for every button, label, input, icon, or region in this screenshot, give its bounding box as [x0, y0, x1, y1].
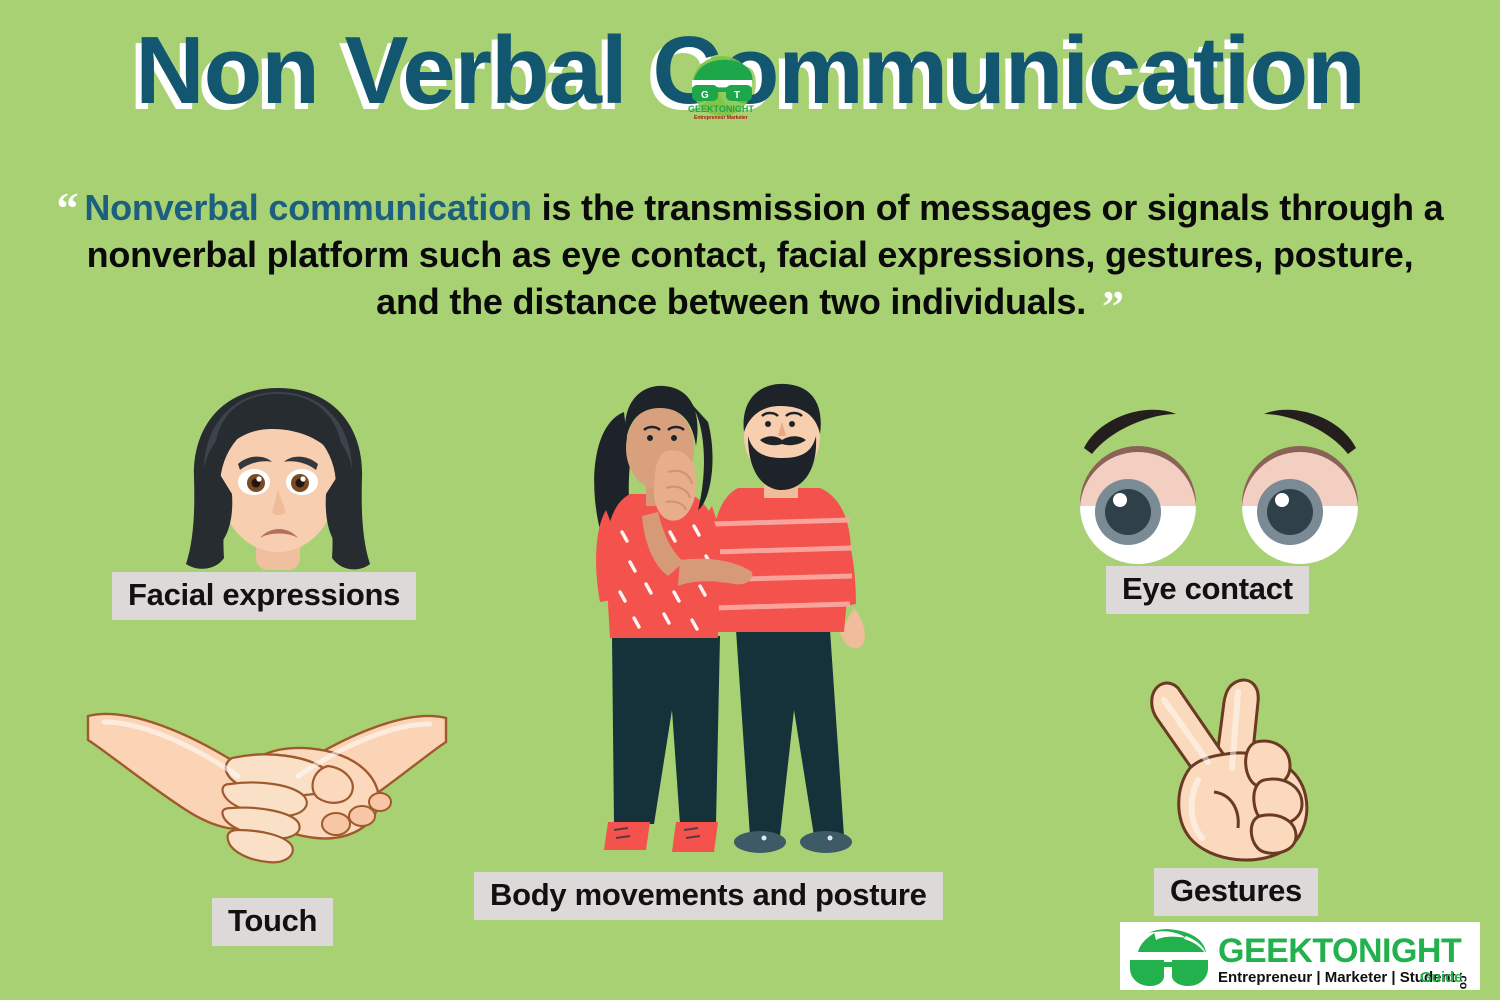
geektonight-logo[interactable]: GEEKTONIGHT .com Entrepreneur | Marketer…	[1120, 922, 1480, 990]
page-title: Non Verbal Communication	[0, 16, 1500, 126]
handshake-illustration	[82, 688, 452, 873]
couple-whisper-illustration	[568, 380, 898, 880]
geektonight-logo-graphic: GEEKTONIGHT .com Entrepreneur | Marketer…	[1120, 922, 1480, 990]
facial-expression-illustration	[168, 382, 388, 597]
quote-highlight: Nonverbal communication	[84, 187, 531, 228]
quote-block: “Nonverbal communication is the transmis…	[50, 185, 1450, 325]
v-sign-illustration	[1148, 676, 1348, 876]
close-quote-mark: ”	[1102, 282, 1124, 331]
label-gestures: Gestures	[1154, 868, 1318, 916]
logo-tagline-accent: Guide	[1420, 969, 1463, 986]
label-facial-expressions: Facial expressions	[112, 572, 416, 620]
label-touch: Touch	[212, 898, 333, 946]
label-eye-contact: Eye contact	[1106, 566, 1309, 614]
logo-wordmark: GEEKTONIGHT	[1218, 932, 1462, 970]
label-body-movements: Body movements and posture	[474, 872, 943, 920]
open-quote-mark: “	[57, 184, 79, 233]
eyes-illustration	[1072, 396, 1368, 576]
infographic-poster: Non Verbal Communication G T GEEKTONIGHT…	[0, 0, 1500, 1000]
